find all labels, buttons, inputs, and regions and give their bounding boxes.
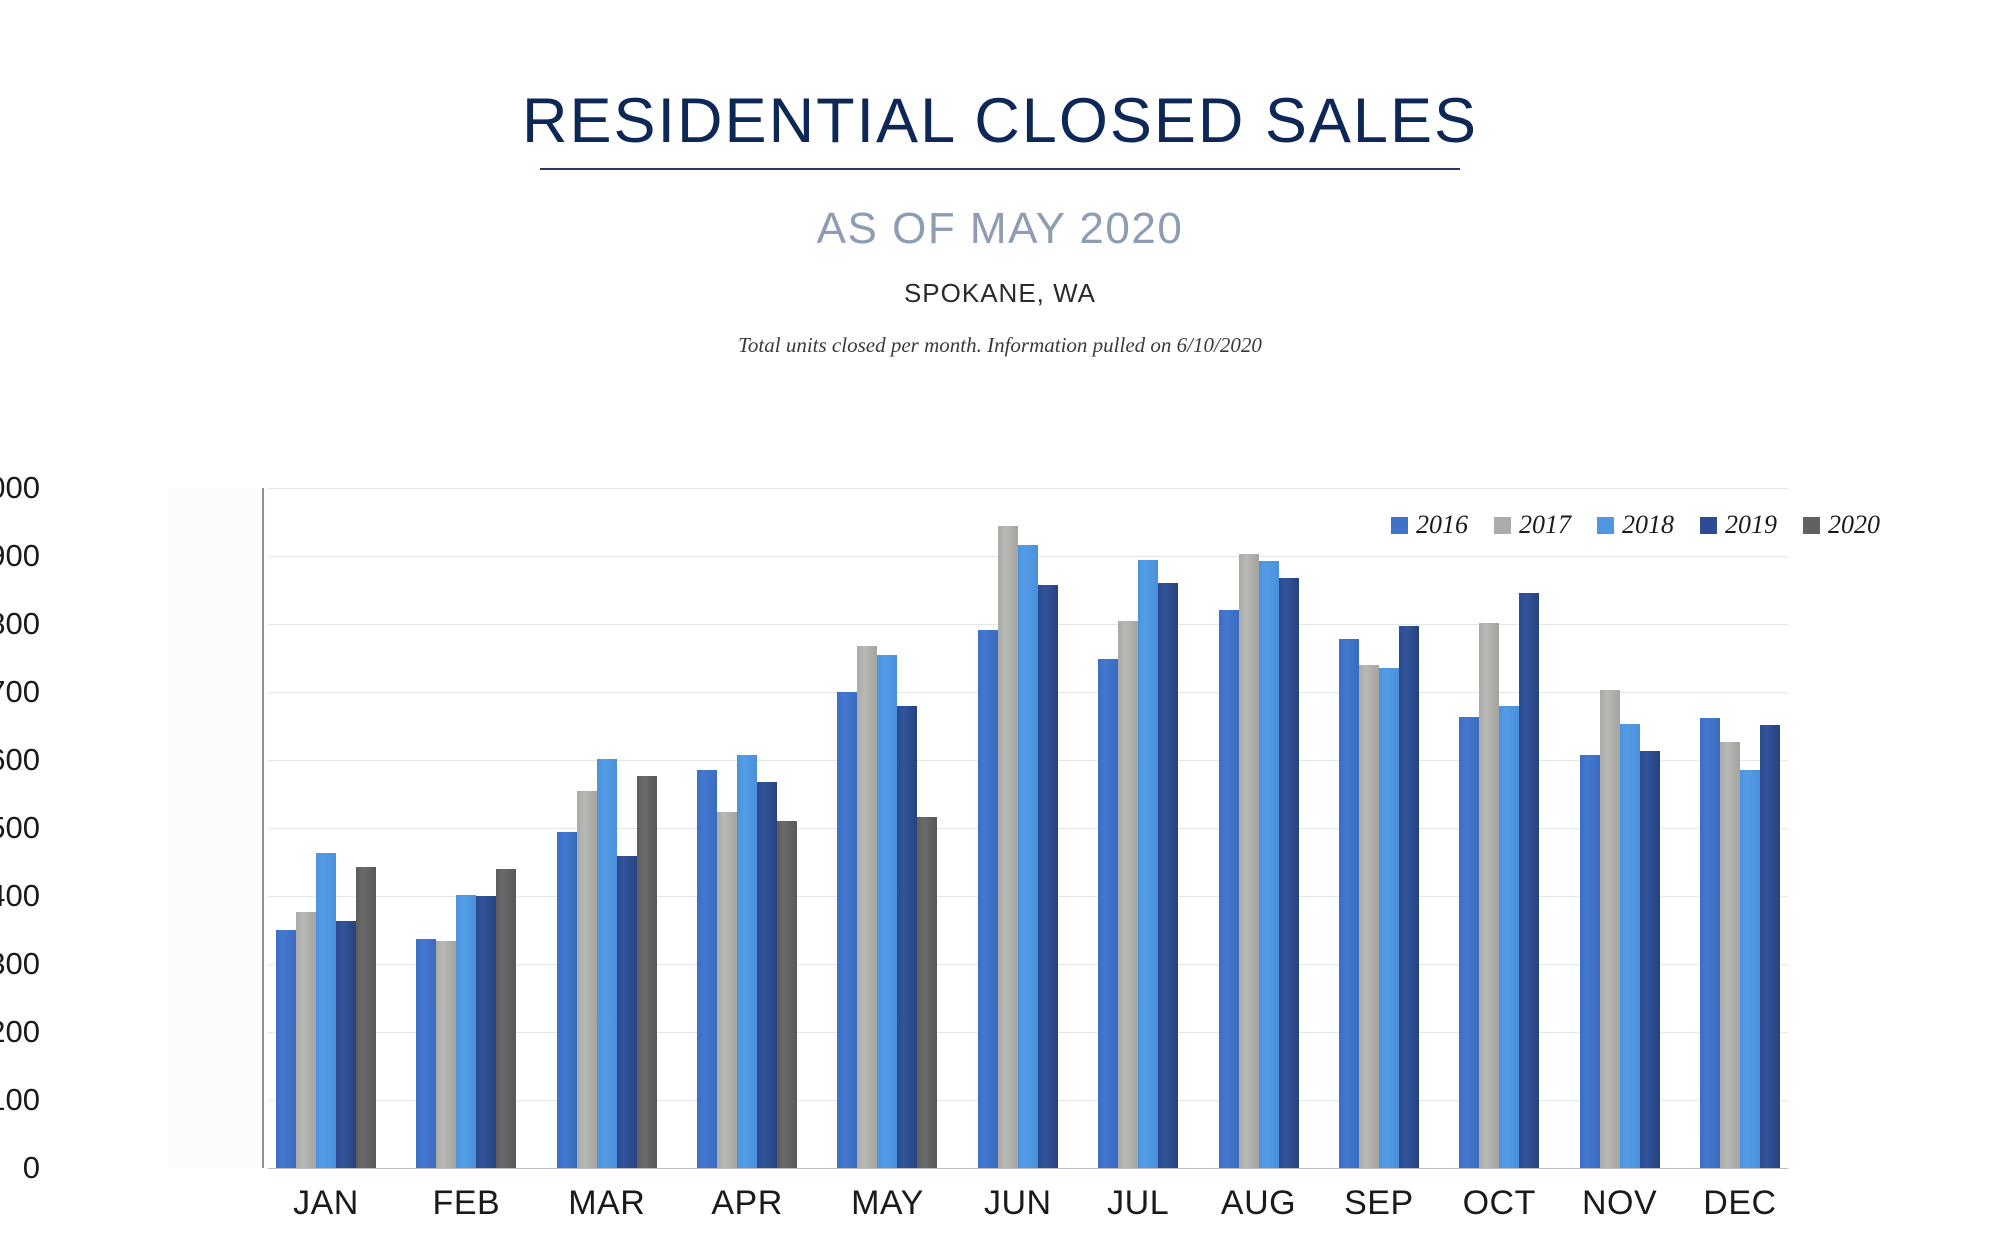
x-axis-label-apr: APR	[697, 1184, 797, 1223]
bar-2017-FEB[interactable]	[436, 941, 456, 1168]
bar-2018-DEC[interactable]	[1740, 770, 1760, 1168]
region-label: SPOKANE, WA	[0, 278, 2000, 309]
bar-2018-MAR[interactable]	[597, 759, 617, 1168]
slide-root: RESIDENTIAL CLOSED SALES AS OF MAY 2020 …	[0, 0, 2000, 1247]
bar-2019-FEB[interactable]	[476, 896, 496, 1168]
bar-2018-SEP[interactable]	[1379, 668, 1399, 1168]
bar-group	[978, 488, 1058, 1168]
bar-2020-MAY[interactable]	[917, 817, 937, 1168]
x-axis-label-sep: SEP	[1339, 1184, 1419, 1223]
bar-2018-FEB[interactable]	[456, 895, 476, 1168]
bar-2019-JAN[interactable]	[336, 921, 356, 1168]
bar-2016-FEB[interactable]	[416, 939, 436, 1168]
bar-2017-JUN[interactable]	[998, 526, 1018, 1168]
bar-2016-AUG[interactable]	[1219, 610, 1239, 1168]
bar-2018-JUN[interactable]	[1018, 545, 1038, 1168]
x-axis-label-dec: DEC	[1700, 1184, 1780, 1223]
title-underline	[540, 168, 1460, 170]
bar-2020-APR[interactable]	[777, 821, 797, 1168]
bar-2016-SEP[interactable]	[1339, 639, 1359, 1168]
bar-2017-NOV[interactable]	[1600, 690, 1620, 1168]
bar-group	[1459, 488, 1539, 1168]
bar-group	[416, 488, 516, 1168]
bar-2017-DEC[interactable]	[1720, 742, 1740, 1168]
plot-area: 10009008007006005004003002001000	[268, 488, 1788, 1168]
bar-2018-JAN[interactable]	[316, 853, 336, 1168]
bar-group	[837, 488, 937, 1168]
bar-2020-JAN[interactable]	[356, 867, 376, 1168]
bar-2017-MAR[interactable]	[577, 791, 597, 1168]
legend-swatch-icon	[1803, 517, 1820, 534]
bar-2016-MAY[interactable]	[837, 692, 857, 1168]
bar-group	[697, 488, 797, 1168]
bar-2019-MAY[interactable]	[897, 706, 917, 1168]
x-axis-label-jan: JAN	[276, 1184, 376, 1223]
y-axis-tick-label: 100	[0, 1082, 40, 1118]
y-axis-tick-label: 600	[0, 742, 40, 778]
y-axis-tick-label: 900	[0, 538, 40, 574]
bar-2019-SEP[interactable]	[1399, 626, 1419, 1168]
x-axis-label-mar: MAR	[557, 1184, 657, 1223]
x-axis-label-may: MAY	[837, 1184, 937, 1223]
bar-2018-JUL[interactable]	[1138, 560, 1158, 1168]
y-axis-tick-label: 700	[0, 674, 40, 710]
bar-2016-APR[interactable]	[697, 770, 717, 1168]
y-axis-tick-label: 800	[0, 606, 40, 642]
bar-2017-MAY[interactable]	[857, 646, 877, 1168]
bar-group	[1339, 488, 1419, 1168]
y-axis-tick-label: 500	[0, 810, 40, 846]
bar-2018-AUG[interactable]	[1259, 561, 1279, 1168]
bar-2017-OCT[interactable]	[1479, 623, 1499, 1168]
bar-2016-NOV[interactable]	[1580, 755, 1600, 1168]
bar-groups	[268, 488, 1788, 1168]
y-axis-line	[262, 488, 264, 1168]
x-axis-label-oct: OCT	[1459, 1184, 1539, 1223]
bar-2016-JUL[interactable]	[1098, 659, 1118, 1168]
page-subtitle: AS OF MAY 2020	[0, 204, 2000, 254]
bar-2019-OCT[interactable]	[1519, 593, 1539, 1168]
bar-group	[1098, 488, 1178, 1168]
bar-2017-APR[interactable]	[717, 812, 737, 1168]
bar-2020-FEB[interactable]	[496, 869, 516, 1168]
y-axis-tick-label: 200	[0, 1014, 40, 1050]
page-title: RESIDENTIAL CLOSED SALES	[0, 88, 2000, 154]
bar-2018-OCT[interactable]	[1499, 706, 1519, 1168]
bar-2019-AUG[interactable]	[1279, 578, 1299, 1168]
x-axis-labels: JANFEBMARAPRMAYJUNJULAUGSEPOCTNOVDEC	[268, 1184, 1788, 1223]
bar-group	[1580, 488, 1660, 1168]
bar-2017-SEP[interactable]	[1359, 665, 1379, 1168]
bar-2019-APR[interactable]	[757, 782, 777, 1168]
y-axis-tick-label: 400	[0, 878, 40, 914]
bar-2016-JAN[interactable]	[276, 930, 296, 1168]
bar-2017-JUL[interactable]	[1118, 621, 1138, 1168]
bar-group	[1700, 488, 1780, 1168]
bar-2016-OCT[interactable]	[1459, 717, 1479, 1168]
legend-label: 2020	[1828, 510, 1880, 540]
header: RESIDENTIAL CLOSED SALES AS OF MAY 2020 …	[0, 0, 2000, 358]
bar-2018-NOV[interactable]	[1620, 724, 1640, 1168]
bar-2018-APR[interactable]	[737, 755, 757, 1168]
bar-group	[276, 488, 376, 1168]
x-axis-label-nov: NOV	[1580, 1184, 1660, 1223]
x-axis-label-jul: JUL	[1098, 1184, 1178, 1223]
bar-2016-DEC[interactable]	[1700, 718, 1720, 1168]
gridline	[268, 1168, 1788, 1169]
y-axis-tick-label: 300	[0, 946, 40, 982]
bar-2016-JUN[interactable]	[978, 630, 998, 1168]
bar-2016-MAR[interactable]	[557, 832, 577, 1168]
y-axis-tick-label: 0	[0, 1150, 40, 1186]
bar-2017-AUG[interactable]	[1239, 554, 1259, 1168]
plot-left-margin	[168, 488, 264, 1168]
bar-2017-JAN[interactable]	[296, 912, 316, 1168]
y-axis-tick-label: 1000	[0, 470, 40, 506]
bar-group	[557, 488, 657, 1168]
bar-group	[1219, 488, 1299, 1168]
bar-2020-MAR[interactable]	[637, 776, 657, 1168]
bar-2019-NOV[interactable]	[1640, 751, 1660, 1168]
x-axis-label-jun: JUN	[978, 1184, 1058, 1223]
chart-container: 20162017201820192020 1000900800700600500…	[0, 470, 2000, 1230]
x-axis-label-feb: FEB	[416, 1184, 516, 1223]
bar-2019-DEC[interactable]	[1760, 725, 1780, 1168]
x-axis-label-aug: AUG	[1219, 1184, 1299, 1223]
source-note: Total units closed per month. Informatio…	[0, 333, 2000, 358]
bar-2018-MAY[interactable]	[877, 655, 897, 1168]
bar-2019-MAR[interactable]	[617, 856, 637, 1168]
bar-2019-JUL[interactable]	[1158, 583, 1178, 1168]
legend-item[interactable]: 2020	[1803, 510, 1880, 540]
bar-2019-JUN[interactable]	[1038, 585, 1058, 1168]
